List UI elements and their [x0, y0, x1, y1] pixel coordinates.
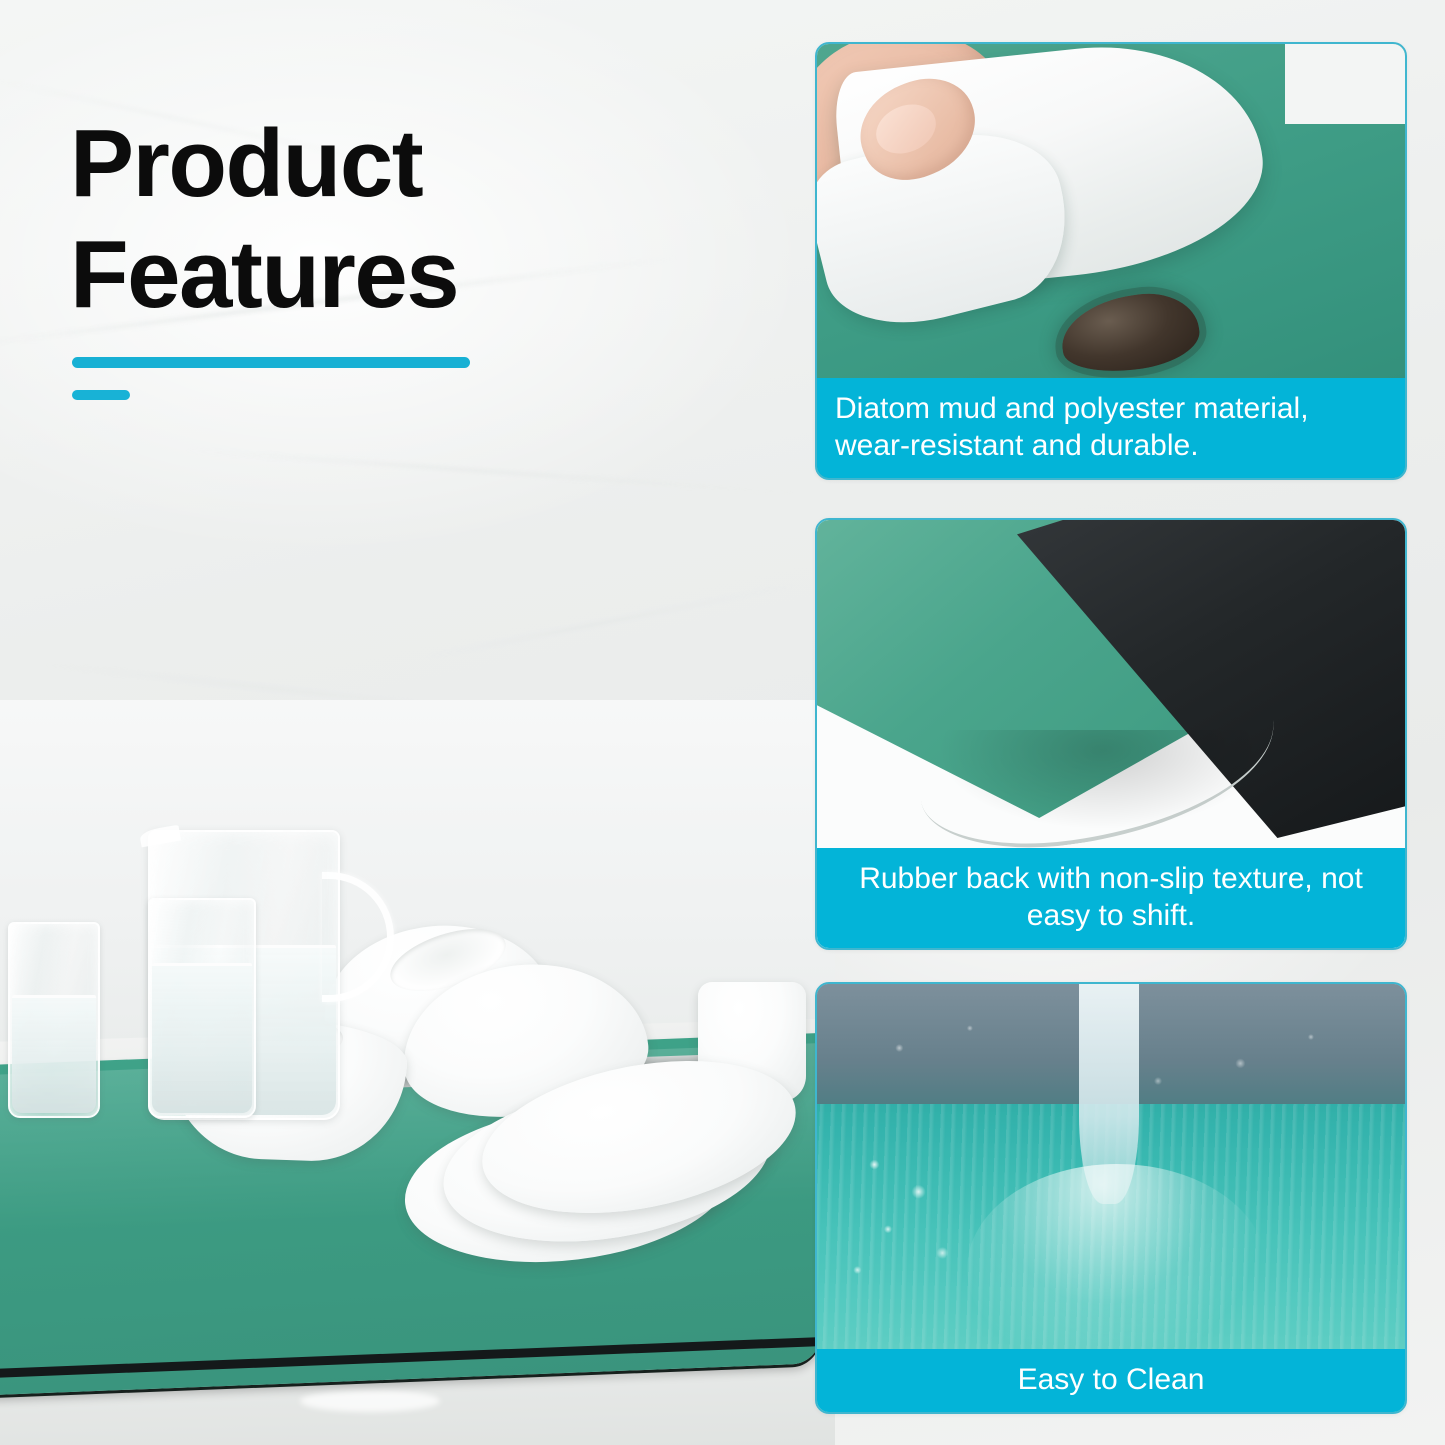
water-glass	[148, 898, 256, 1118]
page-title: Product Features	[70, 108, 730, 331]
mat-fold-shadow	[937, 730, 1267, 830]
water-rinsing-mat-photo	[817, 984, 1405, 1412]
marble-fleck	[300, 1390, 440, 1412]
water-glass	[8, 922, 100, 1118]
liquid-droplet	[1057, 287, 1204, 379]
panel-caption-material: Diatom mud and polyester material, wear-…	[817, 378, 1405, 478]
page-title-line-2: Features	[70, 219, 730, 330]
glass-water	[152, 963, 252, 1113]
feature-panel-easy-clean: Easy to Clean	[815, 982, 1407, 1414]
marble-vein	[423, 584, 797, 659]
glass-water	[12, 995, 96, 1113]
photo-background-corner	[1285, 44, 1405, 124]
hero-photo	[0, 700, 835, 1445]
feature-panel-rubber-back: Rubber back with non-slip texture, not e…	[815, 518, 1407, 950]
product-features-infographic: Product Features	[0, 0, 1445, 1445]
water-bubbles	[837, 1134, 1007, 1304]
water-splash	[967, 1164, 1267, 1374]
marble-vein	[181, 448, 800, 494]
page-title-line-1: Product	[70, 108, 730, 219]
title-underline-short	[72, 390, 130, 400]
panel-caption-rubber-back: Rubber back with non-slip texture, not e…	[817, 848, 1405, 948]
title-underline-long	[72, 357, 470, 368]
panel-caption-easy-clean: Easy to Clean	[817, 1349, 1405, 1412]
feature-panel-material: Diatom mud and polyester material, wear-…	[815, 42, 1407, 480]
